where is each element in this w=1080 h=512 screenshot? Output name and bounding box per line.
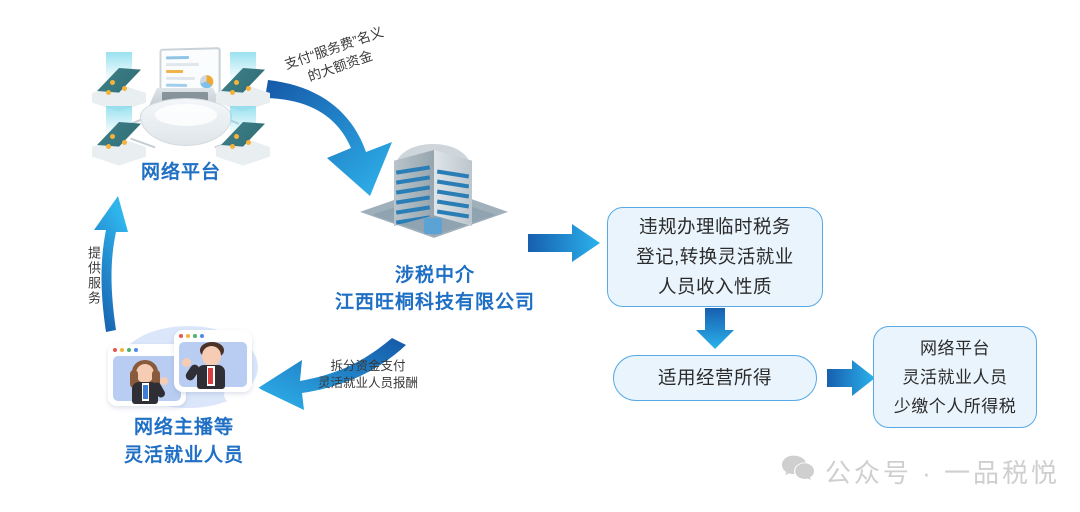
diagram-canvas: 网络平台 涉税中介 江西旺桐科技有 <box>0 0 1080 512</box>
node-label-platform: 网络平台 <box>88 160 274 186</box>
box1-line3: 人员收入性质 <box>636 272 794 302</box>
watermark-text: 公众号 · 一品税悦 <box>825 453 1060 490</box>
box-illegal-registration: 违规办理临时税务 登记,转换灵活就业 人员收入性质 <box>607 207 823 307</box>
agency-label-line2: 江西旺桐科技有限公司 <box>335 289 535 316</box>
agency-label-line1: 涉税中介 <box>335 262 535 289</box>
box3-line1: 网络平台 <box>894 334 1017 363</box>
node-label-streamers: 网络主播等 灵活就业人员 <box>84 414 284 470</box>
box1-line2: 登记,转换灵活就业 <box>636 242 794 272</box>
box-less-tax: 网络平台 灵活就业人员 少缴个人所得税 <box>873 326 1037 428</box>
box-business-income: 适用经营所得 <box>613 355 817 401</box>
streamers-label-line2: 灵活就业人员 <box>84 442 284 470</box>
wechat-icon <box>781 454 815 489</box>
annotation-provide-service: 提供服务 <box>84 246 102 306</box>
split-payment-line2: 灵活就业人员报酬 <box>318 375 418 392</box>
streamers-label-line1: 网络主播等 <box>84 414 284 442</box>
watermark: 公众号 · 一品税悦 <box>781 453 1060 490</box>
box1-line1: 违规办理临时税务 <box>636 212 794 242</box>
box3-line2: 灵活就业人员 <box>894 363 1017 392</box>
network-platform-icon <box>88 42 274 167</box>
office-building-icon <box>360 142 508 262</box>
box3-line3: 少缴个人所得税 <box>894 392 1017 421</box>
annotation-pay-service-fee: 支付“服务费”名义 的大额资金 <box>282 22 392 92</box>
box2-line1: 适用经营所得 <box>658 363 772 393</box>
annotation-split-payment: 拆分资金支付 灵活就业人员报酬 <box>318 358 418 392</box>
live-streamers-icon <box>96 326 276 418</box>
streamer-window-male <box>174 330 252 392</box>
arrow-box2-to-box3 <box>827 360 875 396</box>
node-label-agency: 涉税中介 江西旺桐科技有限公司 <box>335 262 535 316</box>
split-payment-line1: 拆分资金支付 <box>318 358 418 375</box>
arrow-box1-to-box2 <box>696 308 734 349</box>
arrow-agency-to-box1 <box>528 224 600 262</box>
